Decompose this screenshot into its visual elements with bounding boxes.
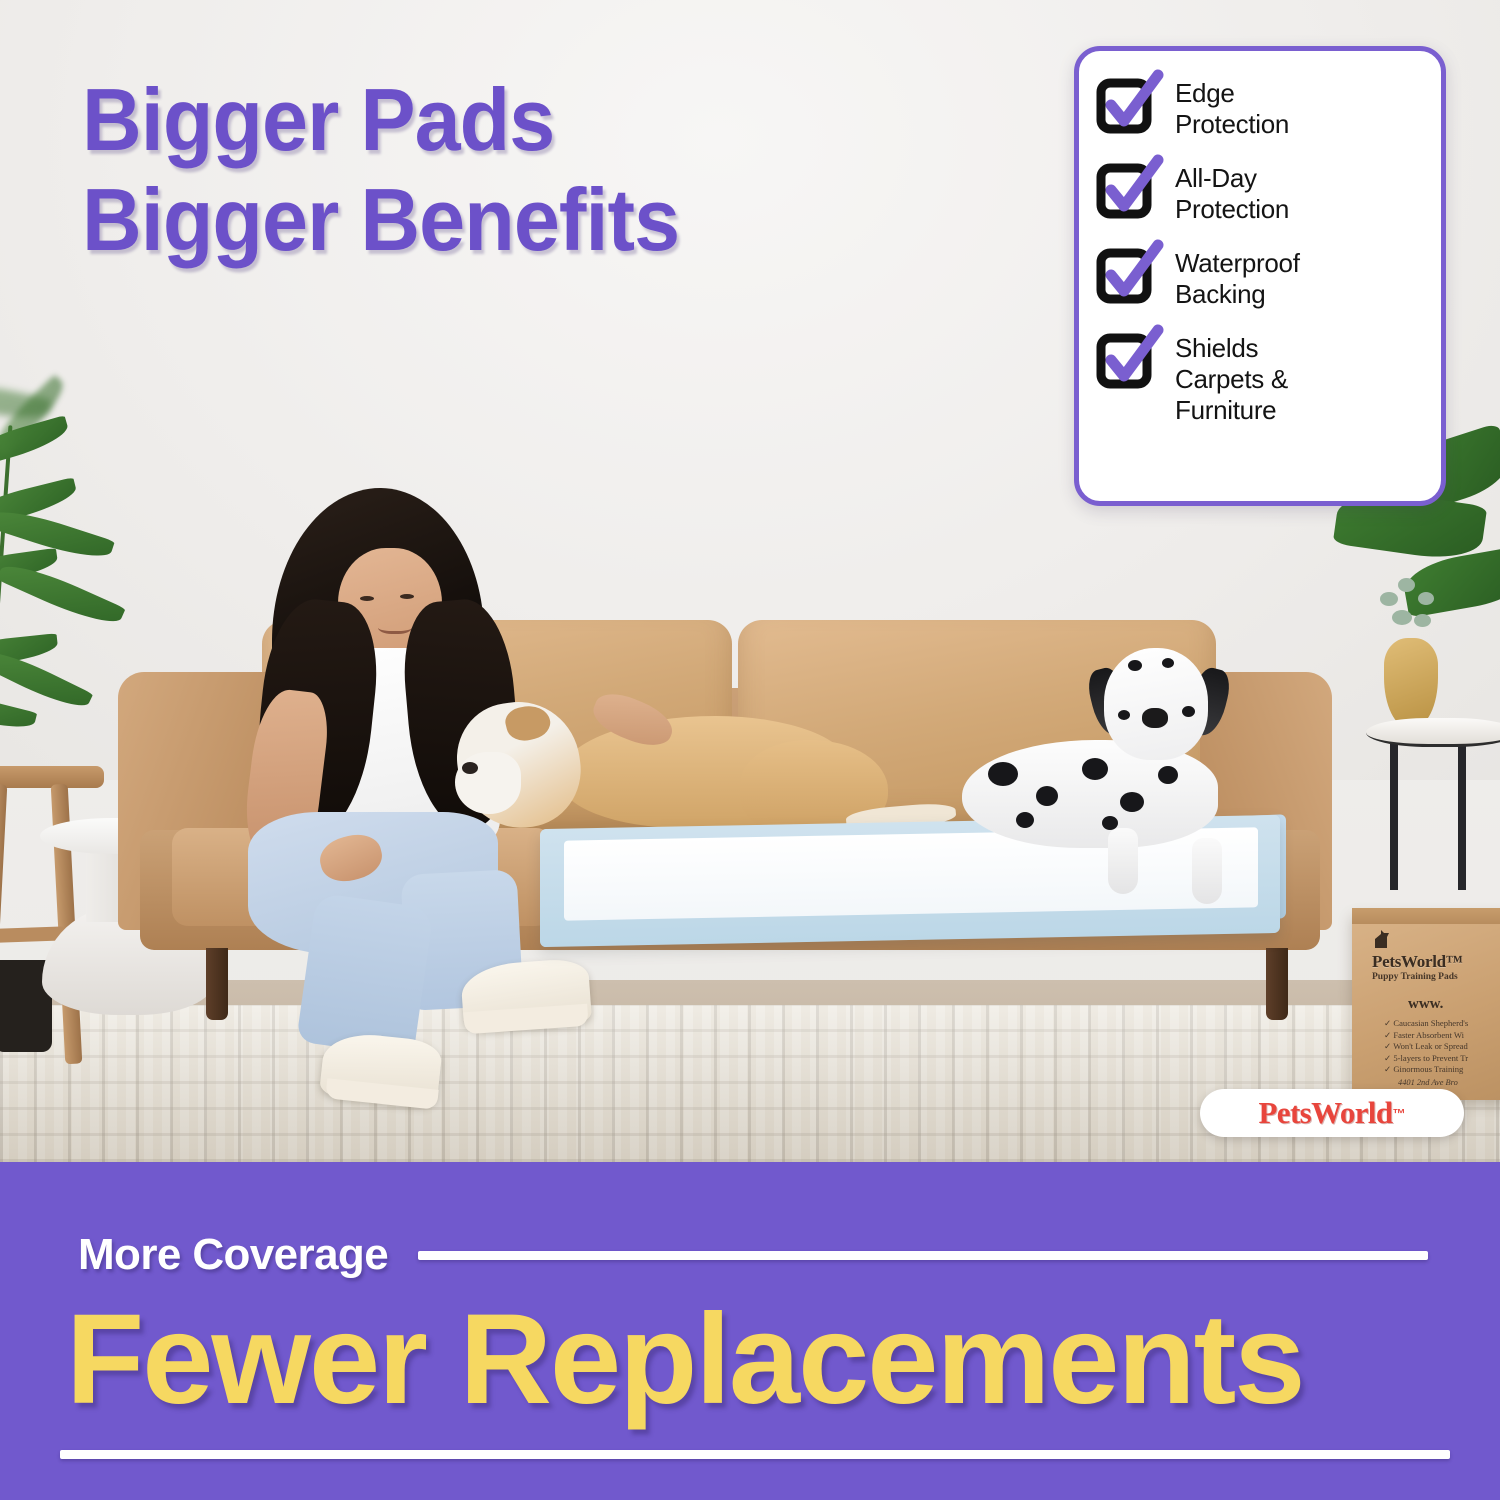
- box-feature-list: ✓ Caucasian Shepherd's ✓ Faster Absorben…: [1384, 1018, 1500, 1076]
- brand-logo: PetsWorld™: [1200, 1089, 1464, 1137]
- bulldog-muzzle: [455, 752, 521, 814]
- brand-logo-text: PetsWorld: [1258, 1095, 1392, 1131]
- box-feature-item: ✓ Caucasian Shepherd's: [1384, 1018, 1500, 1030]
- banner-divider-top: [418, 1251, 1428, 1260]
- dalmatian-head: [1104, 648, 1208, 760]
- label-line: Furniture: [1175, 395, 1288, 426]
- box-feature-item: ✓ Won't Leak or Spread: [1384, 1041, 1500, 1053]
- box-address: 4401 2nd Ave Bro: [1398, 1078, 1458, 1087]
- label-line: Shields: [1175, 333, 1288, 364]
- label-line: All-Day: [1175, 163, 1289, 194]
- checked-box-icon: [1099, 79, 1153, 133]
- person-smile: [378, 618, 412, 634]
- label-line: Protection: [1175, 109, 1289, 140]
- label-line: Carpets &: [1175, 364, 1288, 395]
- label-line: Backing: [1175, 279, 1300, 310]
- bulldog-nose: [462, 762, 478, 774]
- person-leg: [296, 893, 434, 1058]
- box-feature-item: ✓ 5-layers to Prevent Tr: [1384, 1053, 1500, 1065]
- dog-logo-icon: [1372, 928, 1396, 952]
- banner-divider-bottom: [60, 1450, 1450, 1459]
- checklist-item-label: Waterproof Backing: [1175, 247, 1300, 310]
- checked-box-icon: [1099, 334, 1153, 388]
- checklist-item-edge-protection: Edge Protection: [1099, 77, 1421, 140]
- decorative-vase: [1384, 638, 1438, 728]
- box-feature-item: ✓ Faster Absorbent Wi: [1384, 1030, 1500, 1042]
- area-rug: [0, 1005, 1500, 1162]
- page-title: Bigger Pads Bigger Benefits: [82, 70, 679, 270]
- product-box-flap: [1352, 908, 1500, 924]
- box-brand-name: PetsWorld™: [1372, 952, 1500, 972]
- dalmatian-nose: [1142, 708, 1168, 728]
- checklist-item-label: Edge Protection: [1175, 77, 1289, 140]
- checklist-item-label: Shields Carpets & Furniture: [1175, 332, 1288, 426]
- dalmatian-paw: [1108, 828, 1138, 894]
- box-subtitle: Puppy Training Pads: [1372, 972, 1500, 982]
- checklist-item-waterproof-backing: Waterproof Backing: [1099, 247, 1421, 310]
- dalmatian-paw: [1192, 838, 1222, 904]
- checklist-item-shields-carpets-furniture: Shields Carpets & Furniture: [1099, 332, 1421, 426]
- label-line: Edge: [1175, 78, 1289, 109]
- box-feature-item: ✓ Ginormous Training: [1384, 1064, 1500, 1076]
- trademark-symbol: ™: [1393, 1106, 1406, 1121]
- box-url: www.: [1408, 996, 1443, 1013]
- checklist-item-all-day-protection: All-Day Protection: [1099, 162, 1421, 225]
- product-marketing-image: PetsWorld™ Puppy Training Pads www. ✓ Ca…: [0, 0, 1500, 1500]
- benefits-checklist-card: Edge Protection All-Day Protection: [1074, 46, 1446, 506]
- checked-box-icon: [1099, 249, 1153, 303]
- sofa-leg: [206, 948, 228, 1020]
- label-line: Protection: [1175, 194, 1289, 225]
- banner-eyebrow-row: More Coverage: [78, 1230, 1428, 1280]
- bottom-banner: More Coverage Fewer Replacements: [0, 1162, 1500, 1500]
- label-line: Waterproof: [1175, 248, 1300, 279]
- side-table: [1366, 718, 1500, 747]
- checked-box-icon: [1099, 164, 1153, 218]
- banner-headline: Fewer Replacements: [66, 1294, 1450, 1426]
- sofa-leg: [1266, 948, 1288, 1020]
- headline-line-2: Bigger Benefits: [82, 170, 679, 270]
- checklist-item-label: All-Day Protection: [1175, 162, 1289, 225]
- headline-line-1: Bigger Pads: [82, 70, 679, 170]
- banner-eyebrow-text: More Coverage: [78, 1230, 388, 1280]
